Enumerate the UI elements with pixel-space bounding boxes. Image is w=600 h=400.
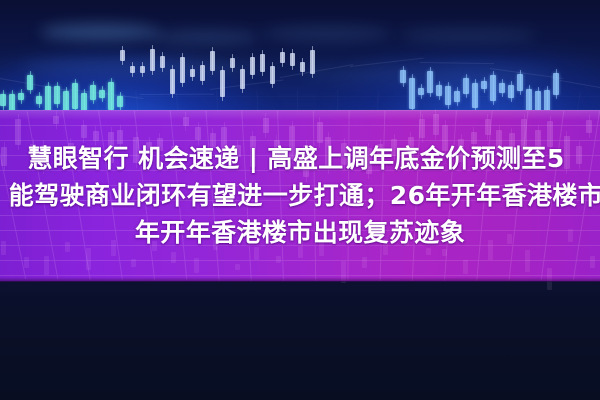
chart-haze-3 [262, 26, 392, 41]
chart-haze-1 [40, 24, 160, 40]
banner-candlestick-overlay [0, 110, 600, 281]
screenshot-root: 慧眼智行 机会速递 | 高盛上调年底金价预测至5 能驾驶商业闭环有望进一步打通；… [0, 0, 600, 400]
background-dark-bottom [0, 278, 600, 400]
headline-banner-band [0, 110, 600, 281]
chart-haze-2 [150, 30, 260, 44]
banner-bottom-edge [0, 277, 600, 282]
banner-top-sheen [0, 110, 600, 120]
chart-haze-4 [398, 28, 538, 42]
